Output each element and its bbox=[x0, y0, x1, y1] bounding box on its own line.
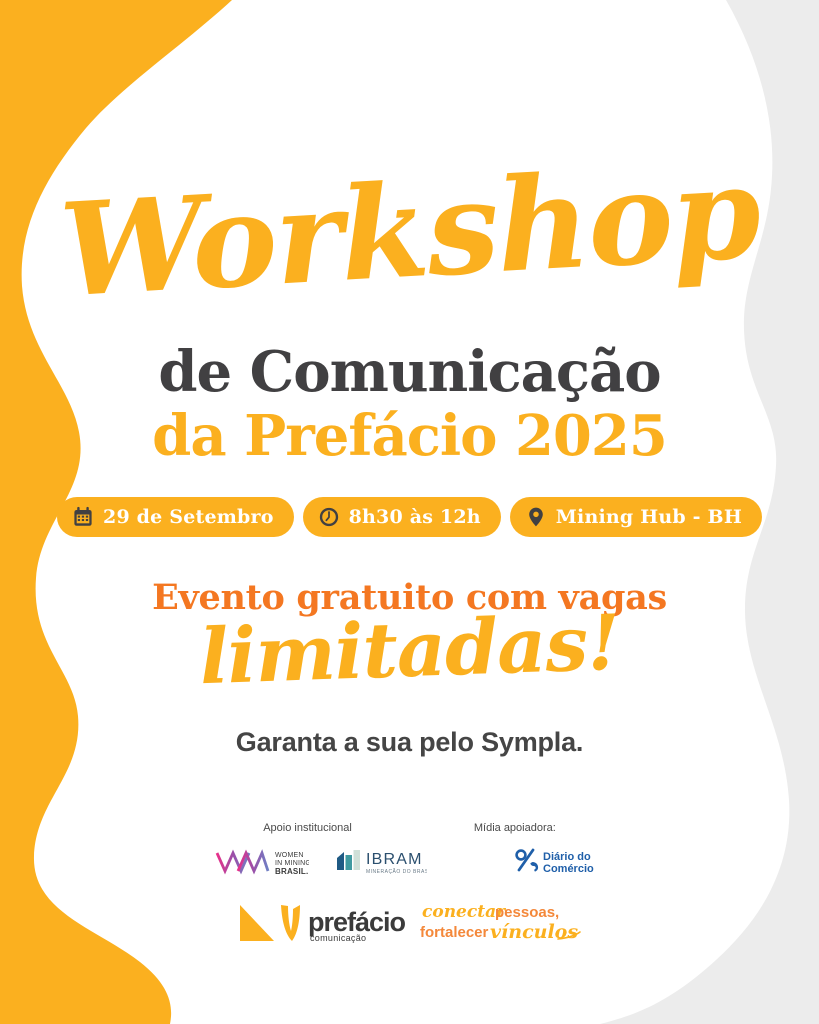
svg-text:Diário do: Diário do bbox=[543, 851, 591, 863]
poster-canvas: Workshop de Comunicação da Prefácio 2025 bbox=[0, 0, 819, 1024]
page-title-script: Workshop bbox=[0, 145, 819, 319]
institutional-support-label: Apoio institucional bbox=[263, 822, 352, 834]
tagline-script-2: vínculos bbox=[490, 921, 578, 943]
event-date-pill[interactable]: 29 de Setembro bbox=[57, 497, 294, 537]
svg-text:IBRAM: IBRAM bbox=[366, 851, 423, 868]
tagline-bold-2: fortalecer bbox=[420, 924, 489, 941]
sponsor-section-labels: Apoio institucional Mídia apoiadora: bbox=[0, 822, 819, 834]
poster-content: Workshop de Comunicação da Prefácio 2025 bbox=[0, 0, 819, 1024]
tagline-bold-1: pessoas, bbox=[495, 904, 559, 921]
diario-do-comercio-logo: Diário do Comércio bbox=[513, 846, 605, 878]
event-location-label: Mining Hub - BH bbox=[556, 506, 742, 528]
prefacio-logo: prefácio comunicação bbox=[236, 897, 406, 954]
prefacio-brand-row: prefácio comunicação conectar pessoas, f… bbox=[0, 897, 819, 954]
ibram-logo: IBRAM MINERAÇÃO DO BRASIL bbox=[335, 846, 427, 878]
page-title-line3: da Prefácio 2025 bbox=[0, 408, 819, 464]
event-time-pill[interactable]: 8h30 às 12h bbox=[303, 497, 501, 537]
prefacio-mark-check bbox=[281, 905, 300, 941]
svg-text:comunicação: comunicação bbox=[310, 933, 366, 943]
prefacio-mark-triangle bbox=[240, 905, 274, 941]
svg-text:BRASIL.: BRASIL. bbox=[275, 867, 308, 876]
svg-text:MINERAÇÃO DO BRASIL: MINERAÇÃO DO BRASIL bbox=[366, 868, 427, 875]
cta-text: Garanta a sua pelo Sympla. bbox=[0, 727, 819, 758]
location-pin-icon bbox=[525, 506, 547, 528]
sponsor-logo-row: WOMEN IN MINING BRASIL. IBRAM MINERAÇÃO … bbox=[0, 845, 819, 879]
calendar-icon bbox=[72, 506, 94, 528]
svg-text:IN MINING: IN MINING bbox=[275, 860, 309, 867]
event-info-pills: 29 de Setembro 8h30 às 12h bbox=[0, 497, 819, 537]
event-location-pill[interactable]: Mining Hub - BH bbox=[510, 497, 762, 537]
svg-text:WOMEN: WOMEN bbox=[275, 852, 304, 859]
prefacio-tagline: conectar pessoas, fortalecer vínculos bbox=[418, 899, 584, 952]
svg-text:Comércio: Comércio bbox=[543, 863, 594, 875]
media-partner-label: Mídia apoiadora: bbox=[474, 822, 556, 834]
tagline-script-1: conectar bbox=[422, 902, 506, 922]
event-time-label: 8h30 às 12h bbox=[349, 506, 481, 528]
women-in-mining-brasil-logo: WOMEN IN MINING BRASIL. bbox=[214, 845, 309, 879]
clock-icon bbox=[318, 506, 340, 528]
page-title-line2: de Comunicação bbox=[0, 344, 819, 400]
event-date-label: 29 de Setembro bbox=[103, 506, 274, 528]
